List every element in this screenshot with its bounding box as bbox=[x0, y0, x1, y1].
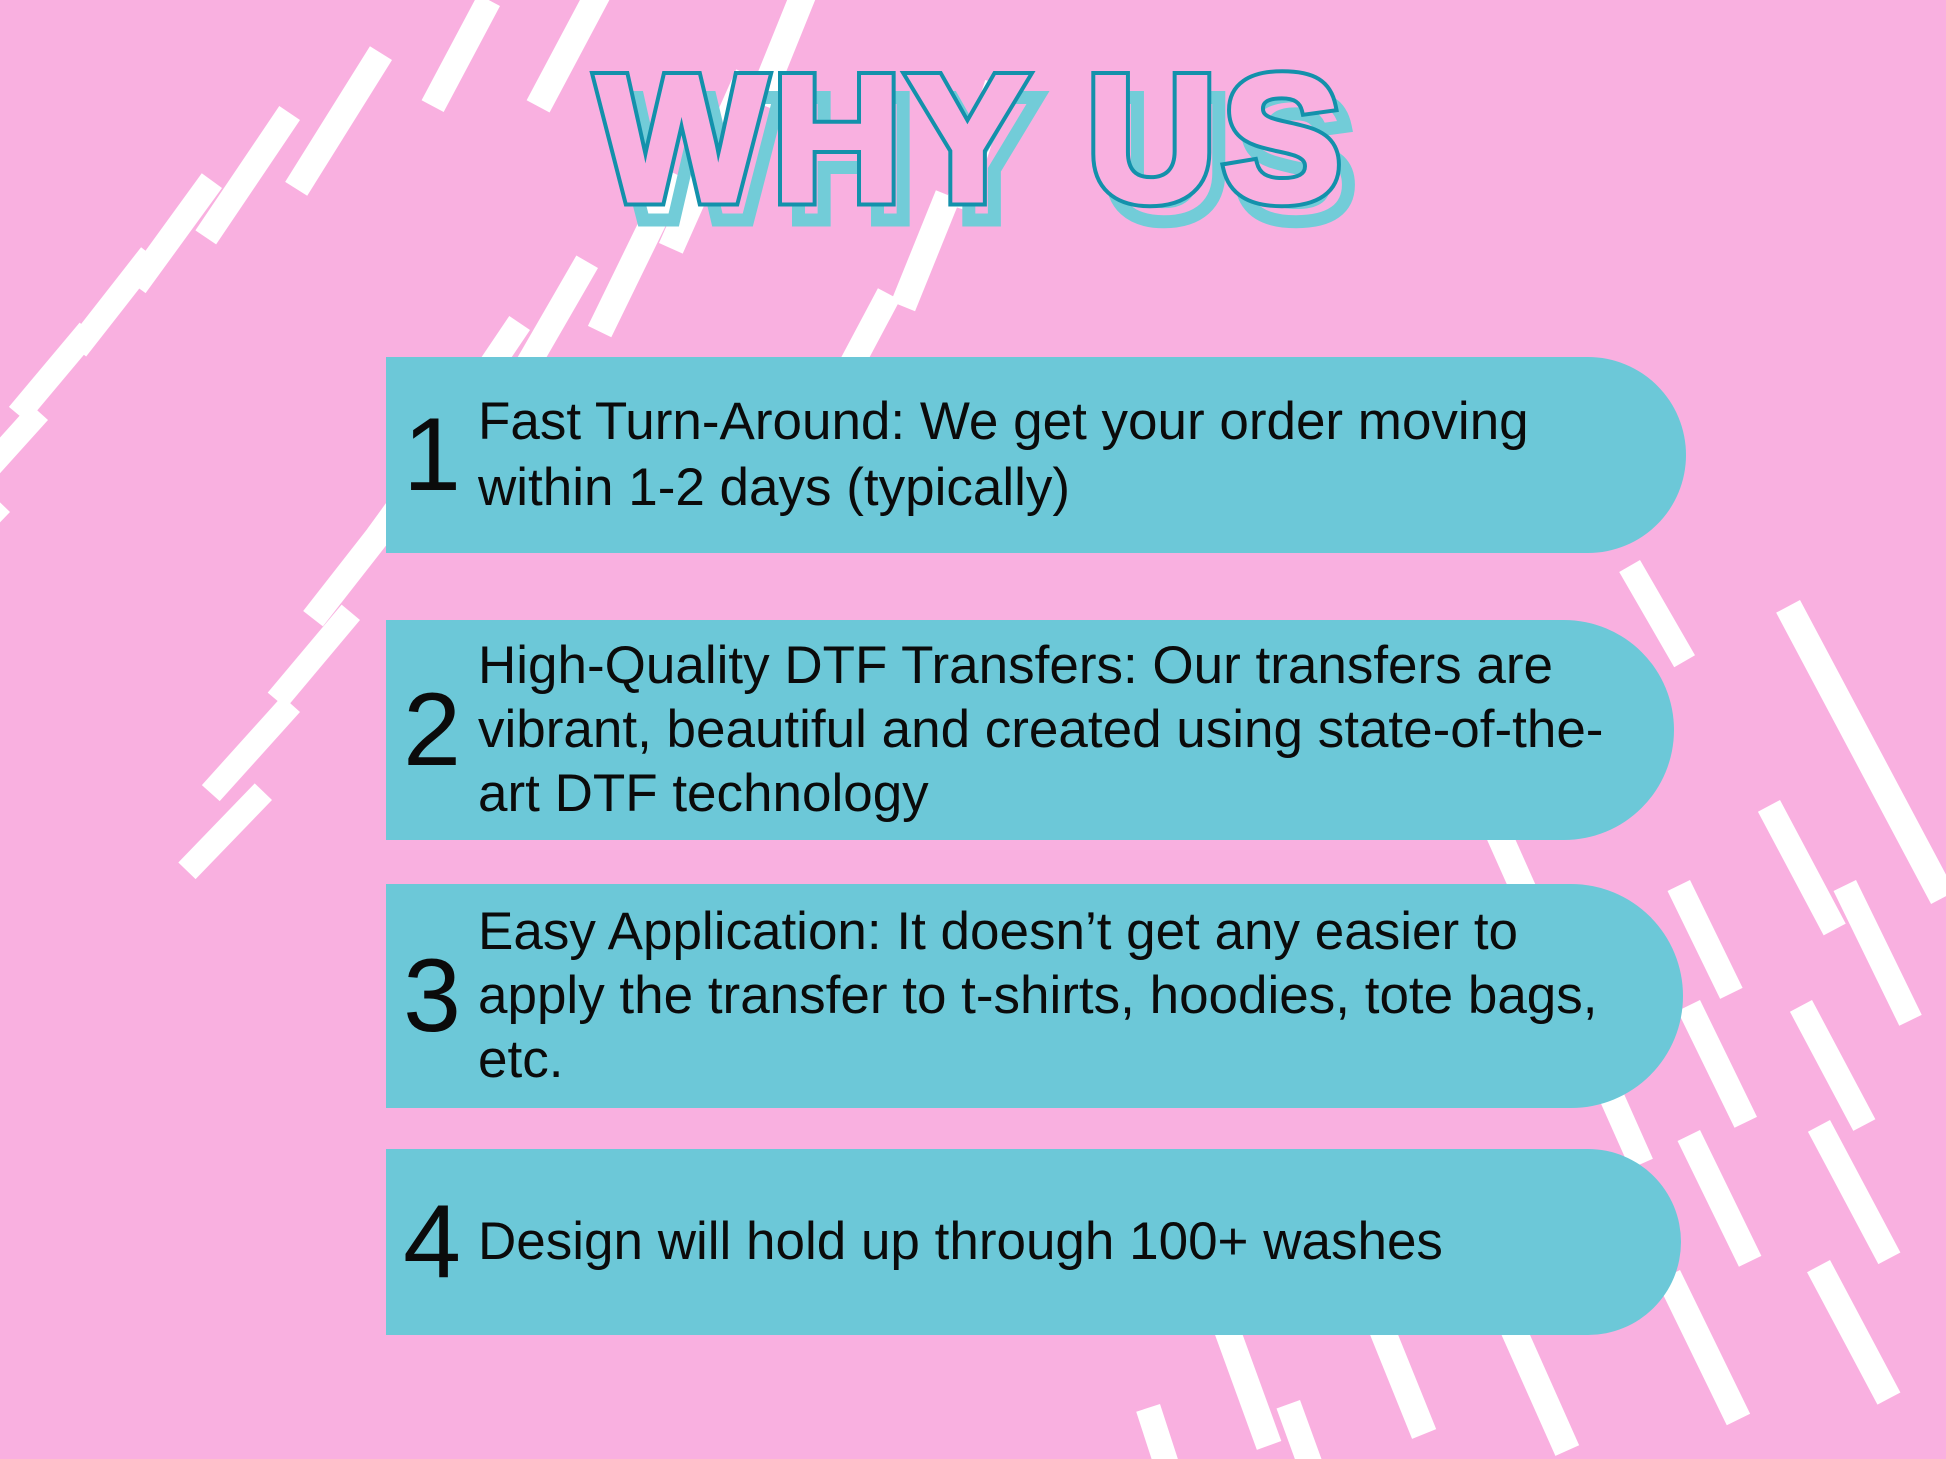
benefit-card-list: 1 Fast Turn-Around: We get your order mo… bbox=[0, 0, 1946, 1459]
poster-canvas: WHY US WHY US WHY US 1 Fast Turn-Around:… bbox=[0, 0, 1946, 1459]
benefit-card-text: Easy Application: It doesn’t get any eas… bbox=[478, 900, 1683, 1092]
benefit-card-text: High-Quality DTF Transfers: Our transfer… bbox=[478, 634, 1674, 826]
benefit-card: 4 Design will hold up through 100+ washe… bbox=[386, 1149, 1681, 1335]
benefit-card-number: 3 bbox=[386, 944, 478, 1048]
benefit-card-text: Fast Turn-Around: We get your order movi… bbox=[478, 389, 1686, 521]
benefit-card-number: 4 bbox=[386, 1190, 478, 1294]
benefit-card-number: 1 bbox=[386, 403, 478, 507]
benefit-card: 3 Easy Application: It doesn’t get any e… bbox=[386, 884, 1683, 1108]
benefit-card: 2 High-Quality DTF Transfers: Our transf… bbox=[386, 620, 1674, 840]
benefit-card: 1 Fast Turn-Around: We get your order mo… bbox=[386, 357, 1686, 553]
benefit-card-number: 2 bbox=[386, 678, 478, 782]
benefit-card-text: Design will hold up through 100+ washes bbox=[478, 1209, 1681, 1275]
